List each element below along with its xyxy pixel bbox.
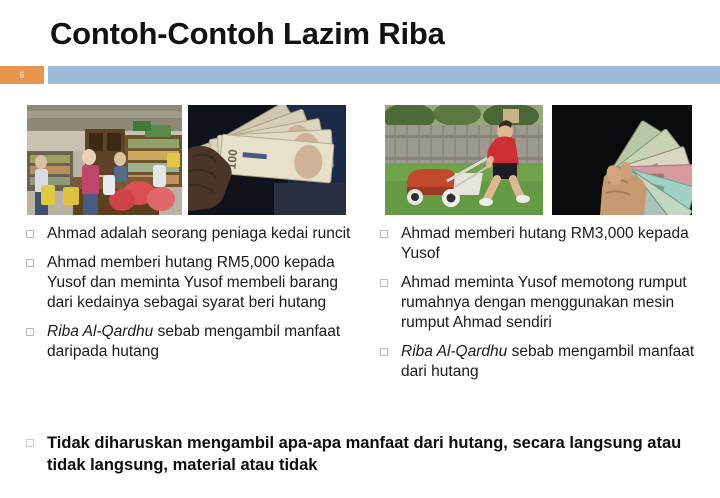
- hand-holding-rm100-notes-photo: 100: [188, 105, 346, 215]
- square-bullet-icon: [380, 348, 388, 356]
- sundry-shop-photo: [27, 105, 182, 215]
- list-item-text: Ahmad meminta Yusof memotong rumput ruma…: [401, 273, 710, 333]
- list-item: Riba Al-Qardhu sebab mengambil manfaat d…: [380, 342, 710, 382]
- square-bullet-icon: [380, 279, 388, 287]
- list-item-body: Ahmad adalah seorang peniaga kedai runci…: [47, 225, 350, 242]
- list-item-body: Ahmad memberi hutang RM3,000 kepada Yuso…: [401, 225, 689, 262]
- list-item-text: Riba Al-Qardhu sebab mengambil manfaat d…: [47, 322, 356, 362]
- list-item: Riba Al-Qardhu sebab mengambil manfaat d…: [26, 322, 356, 362]
- list-item-text: Riba Al-Qardhu sebab mengambil manfaat d…: [401, 342, 710, 382]
- square-bullet-icon: [26, 439, 34, 447]
- hand-holding-assorted-notes-photo: [552, 105, 692, 215]
- conclusion-text: Tidak diharuskan mengambil apa-apa manfa…: [47, 432, 698, 476]
- list-item-emphasis: Riba Al-Qardhu: [47, 323, 153, 340]
- page-title: Contoh-Contoh Lazim Riba: [50, 16, 445, 52]
- list-item: Ahmad memberi hutang RM5,000 kepada Yuso…: [26, 253, 356, 313]
- list-item: Ahmad adalah seorang peniaga kedai runci…: [26, 224, 356, 244]
- bullet-column-right: Ahmad memberi hutang RM3,000 kepada Yuso…: [380, 224, 710, 391]
- list-item-text: Ahmad memberi hutang RM5,000 kepada Yuso…: [47, 253, 356, 313]
- list-item: Ahmad meminta Yusof memotong rumput ruma…: [380, 273, 710, 333]
- list-item-body: Ahmad meminta Yusof memotong rumput ruma…: [401, 274, 687, 331]
- list-item-emphasis: Riba Al-Qardhu: [401, 343, 507, 360]
- conclusion-statement: Tidak diharuskan mengambil apa-apa manfa…: [26, 432, 698, 476]
- header-rule: 6: [0, 66, 720, 84]
- square-bullet-icon: [26, 259, 34, 267]
- bullet-column-left: Ahmad adalah seorang peniaga kedai runci…: [26, 224, 356, 371]
- square-bullet-icon: [380, 230, 388, 238]
- man-mowing-lawn-photo: [385, 105, 543, 215]
- list-item-text: Ahmad memberi hutang RM3,000 kepada Yuso…: [401, 224, 710, 264]
- slide-number-badge: 6: [0, 66, 44, 84]
- list-item-text: Ahmad adalah seorang peniaga kedai runci…: [47, 224, 356, 244]
- list-item: Ahmad memberi hutang RM3,000 kepada Yuso…: [380, 224, 710, 264]
- list-item-body: Ahmad memberi hutang RM5,000 kepada Yuso…: [47, 254, 338, 311]
- square-bullet-icon: [26, 230, 34, 238]
- square-bullet-icon: [26, 328, 34, 336]
- header-accent-bar: [48, 66, 720, 84]
